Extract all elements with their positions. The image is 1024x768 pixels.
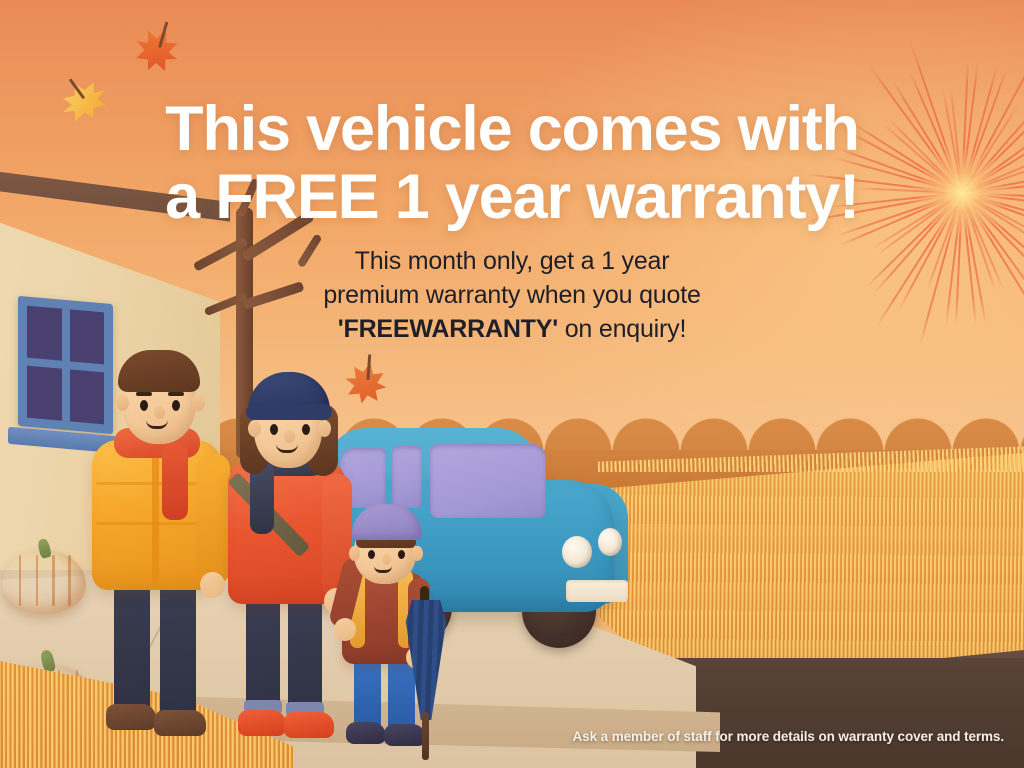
subheadline-line-3-suffix: on enquiry!	[558, 315, 686, 343]
father-eye-left	[140, 400, 148, 411]
mother-shoe-right	[284, 712, 334, 738]
child-hand-left	[334, 618, 356, 641]
car-window-mid	[392, 446, 422, 508]
father-brow-left	[136, 392, 152, 396]
child-beanie	[352, 504, 422, 540]
subheadline-line-3: 'FREEWARRANTY' on enquiry!	[252, 312, 772, 346]
father-hand	[200, 572, 225, 598]
headline-line-2: a FREE 1 year warranty!	[96, 164, 928, 230]
father-leg-right	[160, 574, 196, 720]
subheadline: This month only, get a 1 year premium wa…	[252, 244, 772, 346]
child-eye-left	[368, 550, 375, 559]
mother-ear-left	[248, 420, 261, 437]
child-nose	[382, 554, 391, 565]
figure-father	[88, 336, 238, 746]
car-window-front	[430, 444, 546, 518]
car-license-plate	[566, 580, 628, 602]
father-arm-right	[196, 454, 230, 584]
father-shoe-left	[106, 704, 156, 730]
father-brow-right	[168, 392, 184, 396]
pumpkin-body	[2, 550, 86, 614]
father-shoe-right	[154, 710, 206, 736]
child-ear-left	[349, 546, 360, 561]
umbrella-canopy	[404, 600, 448, 720]
wheat-field	[600, 452, 1024, 682]
mother-nose	[284, 430, 295, 443]
child-eye-right	[398, 550, 405, 559]
pumpkin-upper	[2, 540, 86, 614]
headline-line-1: This vehicle comes with	[96, 96, 928, 162]
subheadline-line-1: This month only, get a 1 year	[252, 244, 772, 278]
mother-eye-right	[302, 424, 310, 435]
child-ear-right	[412, 546, 423, 561]
maple-leaf-top-icon	[128, 21, 186, 79]
mother-beanie-brim	[246, 404, 332, 420]
mother-eye-left	[270, 424, 278, 435]
footnote: Ask a member of staff for more details o…	[573, 729, 1004, 744]
father-jacket-zip	[152, 446, 159, 584]
subheadline-line-2: premium warranty when you quote	[252, 278, 772, 312]
father-leg-left	[114, 574, 150, 714]
father-ear-left	[116, 394, 129, 411]
child-shoe-left	[346, 722, 386, 744]
mother-ear-right	[318, 420, 331, 437]
father-ear-right	[192, 394, 205, 411]
promotional-banner: This vehicle comes with a FREE 1 year wa…	[0, 0, 1024, 768]
umbrella	[404, 600, 448, 760]
car-headlight-left	[562, 536, 592, 568]
umbrella-tip	[422, 712, 429, 760]
promo-code: 'FREEWARRANTY'	[338, 315, 558, 343]
father-hair	[118, 350, 200, 392]
car-headlight-right	[598, 528, 622, 556]
father-eye-right	[172, 400, 180, 411]
father-scarf-tail	[162, 444, 188, 520]
father-nose	[154, 406, 165, 419]
headline: This vehicle comes with a FREE 1 year wa…	[0, 96, 1024, 230]
mother-shoe-left	[238, 710, 286, 736]
